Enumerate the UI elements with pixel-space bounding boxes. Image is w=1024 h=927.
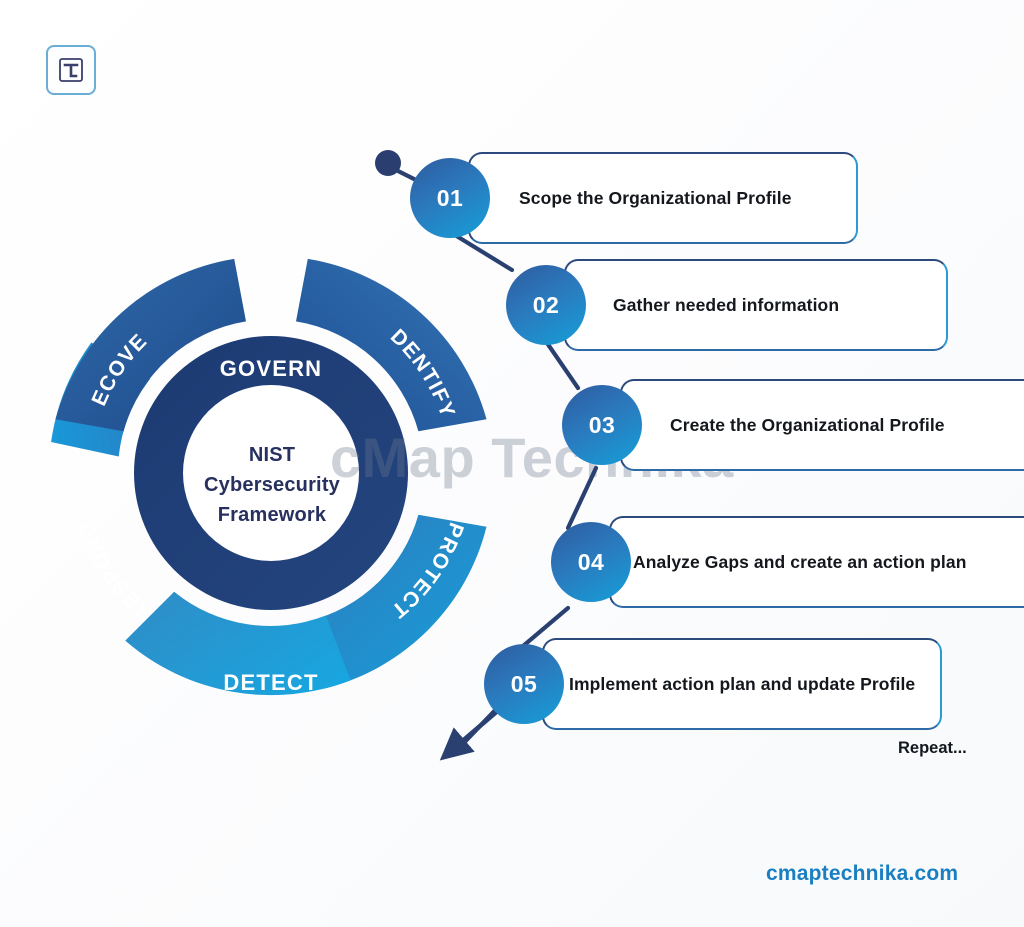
wheel-label-govern: GOVERN	[220, 356, 323, 381]
step-label-05: Implement action plan and update Profile	[569, 674, 915, 695]
center-line-3: Framework	[167, 500, 377, 530]
step-number-02[interactable]: 02	[506, 265, 586, 345]
step-label-01: Scope the Organizational Profile	[519, 188, 792, 209]
step-box-02[interactable]: Gather needed information	[564, 259, 948, 351]
flow-start-node	[375, 150, 401, 176]
step-box-03[interactable]: Create the Organizational Profile	[620, 379, 1024, 471]
step-number-05[interactable]: 05	[484, 644, 564, 724]
repeat-label: Repeat...	[898, 739, 967, 758]
step-number-04[interactable]: 04	[551, 522, 631, 602]
step-label-03: Create the Organizational Profile	[670, 415, 945, 436]
brand-logo	[46, 45, 96, 95]
step-label-02: Gather needed information	[613, 295, 839, 316]
cmap-technika-logo-icon	[57, 56, 85, 84]
step-box-05[interactable]: Implement action plan and update Profile	[542, 638, 942, 730]
wheel-label-respond: RESPOND	[74, 518, 158, 624]
step-number-03[interactable]: 03	[562, 385, 642, 465]
step-label-04: Analyze Gaps and create an action plan	[633, 552, 967, 573]
website-url[interactable]: cmaptechnika.com	[766, 862, 958, 886]
center-line-2: Cybersecurity	[167, 470, 377, 500]
wheel-center-text: NIST Cybersecurity Framework	[167, 440, 377, 530]
step-box-04[interactable]: Analyze Gaps and create an action plan	[609, 516, 1024, 608]
step-box-01[interactable]: Scope the Organizational Profile	[468, 152, 858, 244]
center-line-1: NIST	[167, 440, 377, 470]
wheel-label-detect: DETECT	[223, 670, 318, 695]
step-number-01[interactable]: 01	[410, 158, 490, 238]
